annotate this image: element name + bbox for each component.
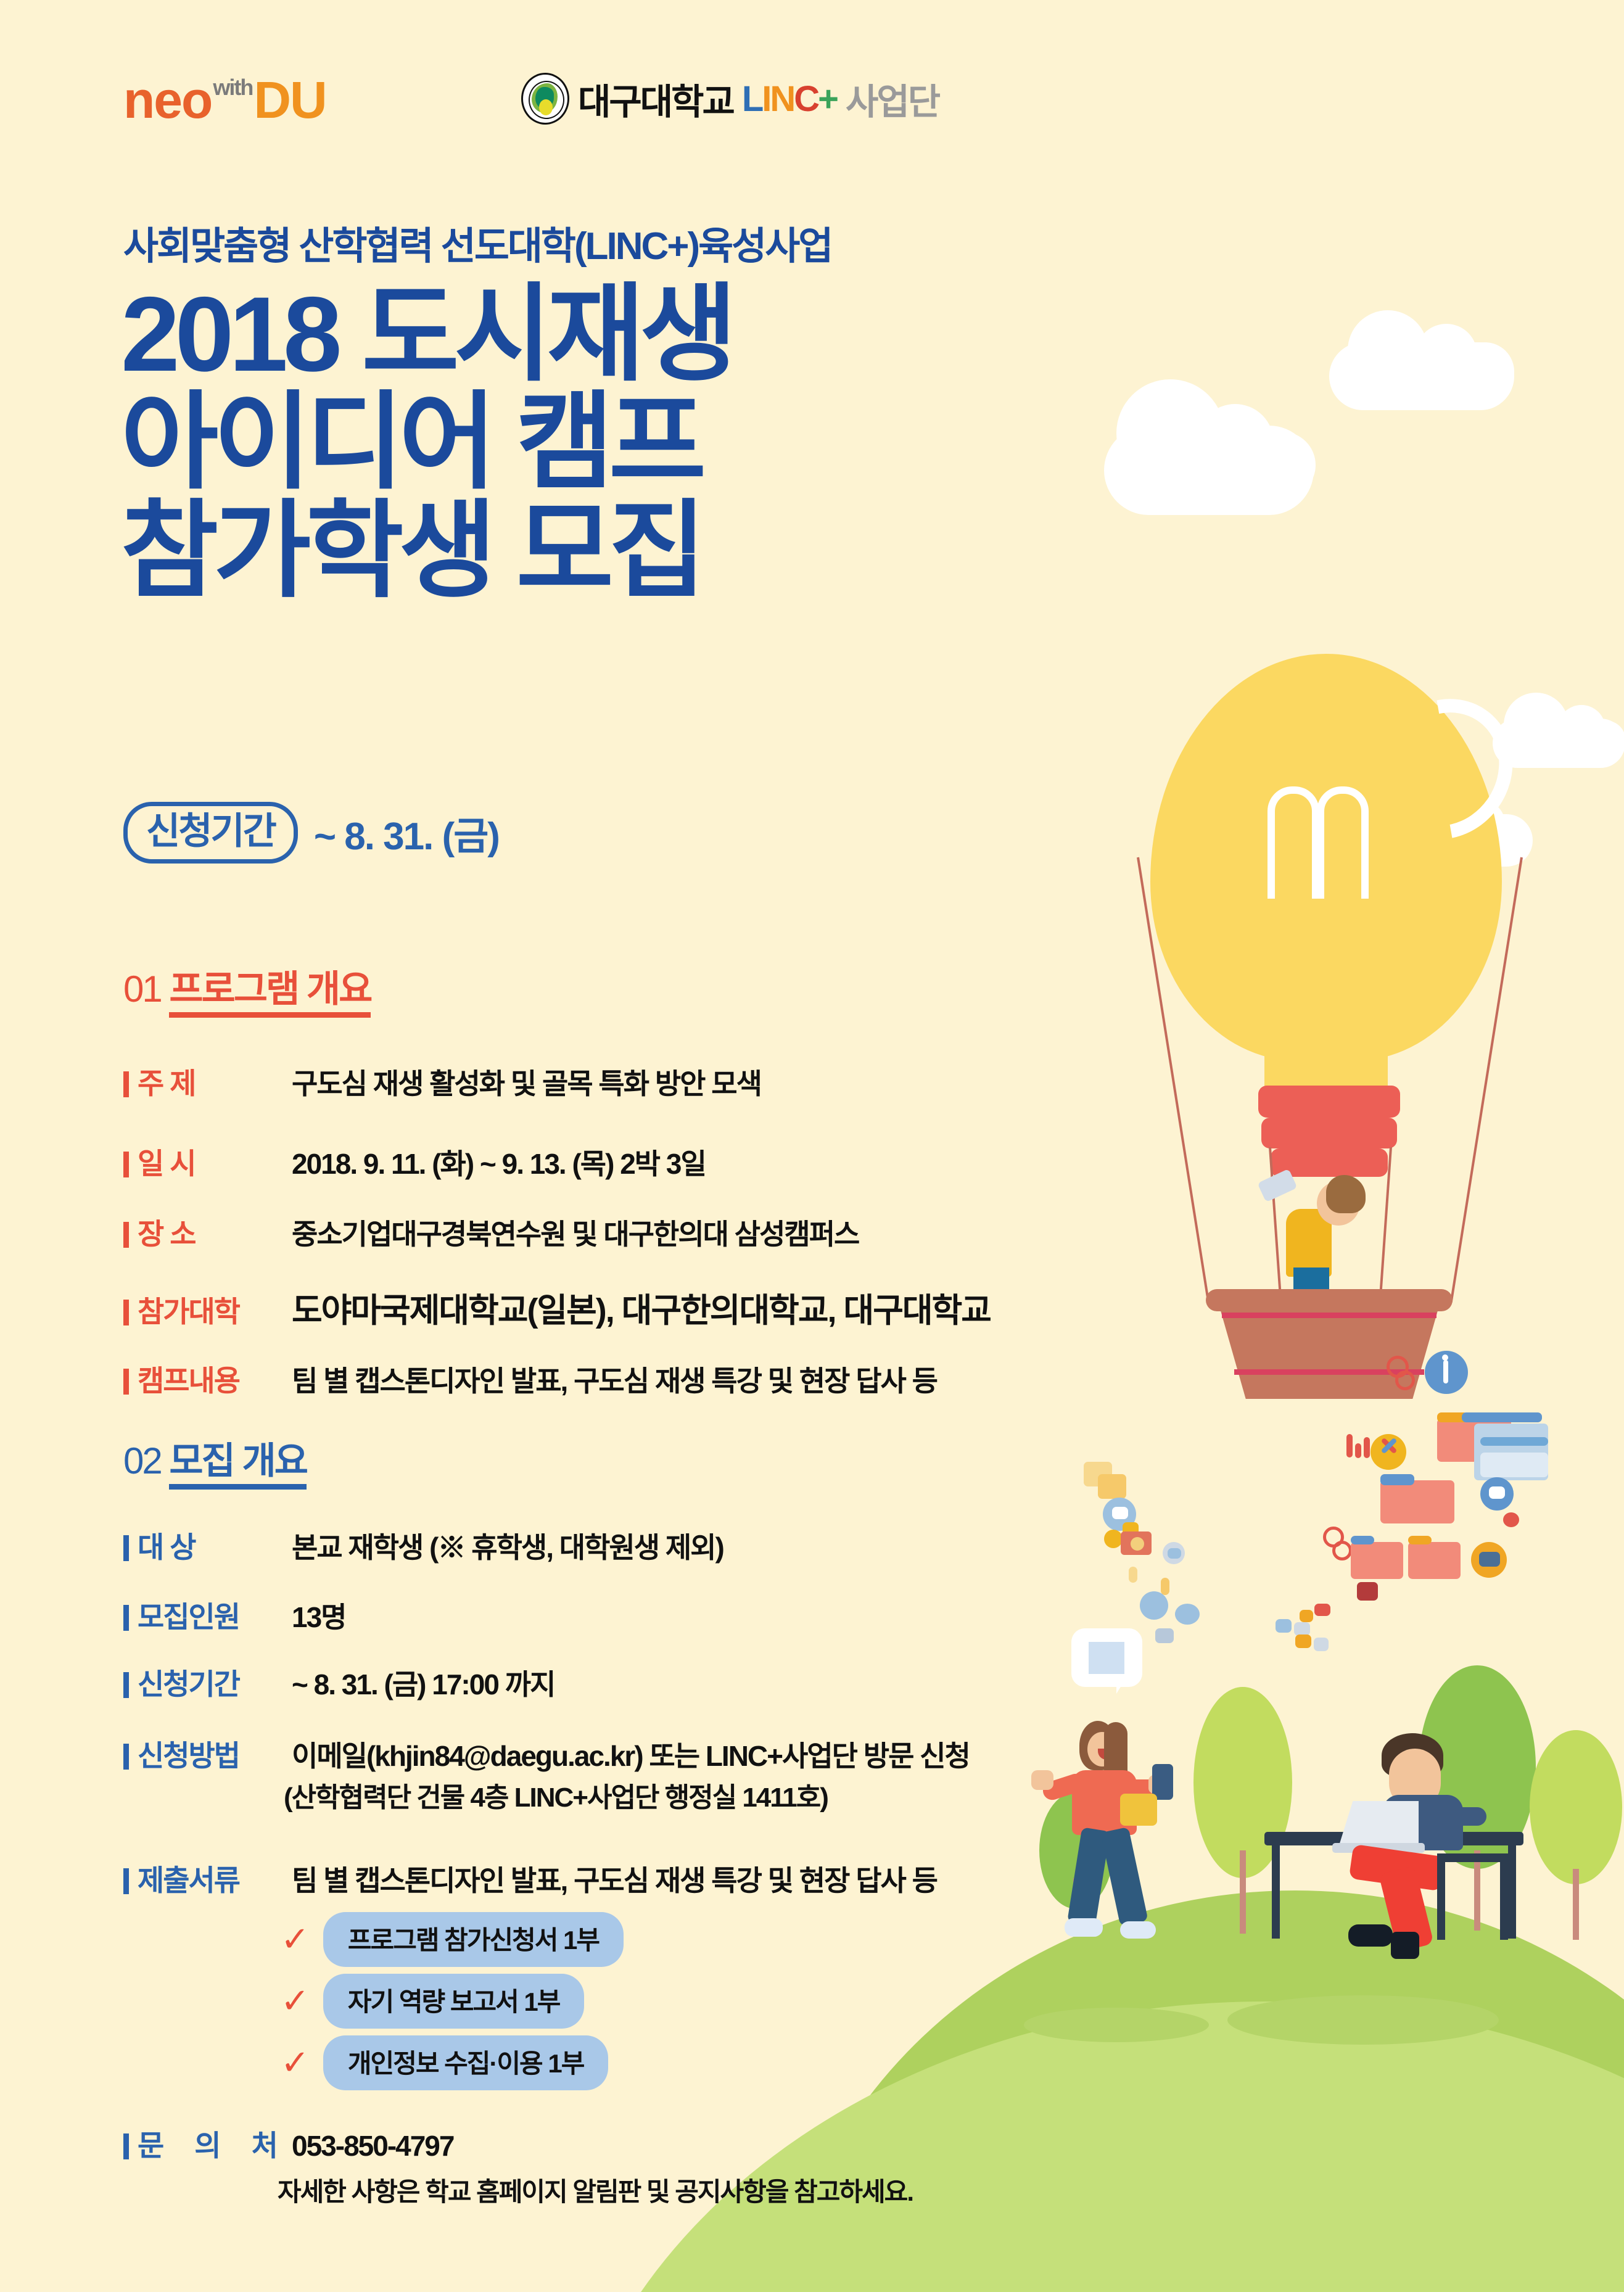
row-marker [123,1152,129,1177]
table-row: 참가대학 도야마국제대학교(일본), 대구한의대학교, 대구대학교 [123,1283,991,1332]
table-row: 제출서류 팀 별 캡스톤디자인 발표, 구도심 재생 특강 및 현장 답사 등 [123,1857,937,1899]
shadow-ellipse [1024,2008,1209,2042]
application-period-badge: 신청기간 [123,802,298,864]
cloud-icon [1104,426,1314,515]
tree-icon [1039,1792,1113,1937]
row-marker [123,1672,129,1698]
row-marker [123,1300,129,1325]
contact-row: 문 의 처 053-850-4797 [123,2122,453,2164]
tree-icon [1530,1730,1622,1940]
contact-note: 자세한 사항은 학교 홈페이지 알림판 및 공지사항을 참고하세요. [278,2171,913,2209]
row-label: 장 소 [138,1210,292,1253]
checkmark-icon: ✓ [281,1981,310,2021]
grass-hill-back [771,1890,1624,2292]
row-value: 팀 별 캡스톤디자인 발표, 구도심 재생 특강 및 현장 답사 등 [292,1359,937,1400]
document-item: ✓ 자기 역량 보고서 1부 [281,1974,584,2029]
table-row: 신청기간 ~ 8. 31. (금) 17:00 까지 [123,1660,554,1703]
application-period-row: 신청기간 ~ 8. 31. (금) [123,802,499,864]
row-value: 팀 별 캡스톤디자인 발표, 구도심 재생 특강 및 현장 답사 등 [292,1858,937,1899]
row-label: 신청기간 [138,1660,292,1703]
document-label: 프로그램 참가신청서 1부 [323,1912,624,1967]
table-row: 신청방법 이메일(khjin84@daegu.ac.kr) 또는 LINC+사업… [123,1732,970,1775]
row-marker [123,1605,129,1631]
shadow-ellipse [1227,1995,1499,2045]
row-marker [123,1868,129,1894]
students-illustration [1005,1684,1560,2029]
university-seal-icon [521,73,569,125]
document-label: 개인정보 수집·이용 1부 [323,2035,608,2090]
tree-icon [1193,1687,1292,1934]
cloud-icon [1385,814,1533,867]
table-row: 일 시 2018. 9. 11. (화) ~ 9. 13. (목) 2박 3일 [123,1140,706,1182]
title-line-3: 참가학생 모집 [121,497,732,605]
row-value: 2018. 9. 11. (화) ~ 9. 13. (목) 2박 3일 [292,1142,706,1182]
row-label: 캠프내용 [138,1357,292,1400]
section-1-heading: 01 프로그램 개요 [123,959,371,1013]
document-label: 자기 역량 보고서 1부 [323,1974,585,2029]
contact-phone: 053-850-4797 [292,2129,453,2162]
linc-wordmark: LINC+ [742,78,837,120]
checkmark-icon: ✓ [281,2043,310,2083]
row-marker [123,1222,129,1248]
title-line-1: 2018 도시재생 [121,281,732,389]
kicker-text: 사회맞춤형 산학협력 선도대학(LINC+)육성사업 [123,215,831,270]
row-label: 제출서류 [138,1857,292,1899]
row-value: 본교 재학생 (※ 휴학생, 대학원생 제외) [292,1525,723,1566]
section-1-number: 01 [123,968,161,1010]
row-marker [123,1744,129,1770]
row-value: 구도심 재생 활성화 및 골목 특화 방안 모색 [292,1061,761,1102]
neo-logo-with-text: with [213,76,252,99]
cloud-icon [1493,719,1624,768]
neo-logo-text: neo [123,74,212,126]
neo-with-du-logo: neo with DU [123,74,326,126]
linc-letter-c: C [794,79,818,119]
linc-letter-plus: + [818,79,837,119]
document-icon [1089,1642,1124,1674]
row-value: 중소기업대구경북연수원 및 대구한의대 삼성캠퍼스 [292,1212,859,1253]
grass-hill-front [555,2001,1624,2292]
section-2-number: 02 [123,1440,161,1482]
application-period-date: ~ 8. 31. (금) [314,805,499,860]
row-label: 대 상 [138,1523,292,1566]
row-value: 도야마국제대학교(일본), 대구한의대학교, 대구대학교 [292,1283,991,1332]
poster-canvas: neo with DU 대구대학교 LINC+ 사업단 사회맞춤형 산학협력 선… [0,0,1624,2292]
row-label: 참가대학 [138,1288,292,1330]
lightbulb-balloon-illustration [1113,654,1545,1382]
linc-letter-l: L [742,79,762,119]
daegu-university-linc-logo: 대구대학교 LINC+ 사업단 [521,73,939,125]
row-label: 주 제 [138,1060,292,1102]
row-value: ~ 8. 31. (금) 17:00 까지 [292,1662,554,1703]
table-row: 모집인원 13명 [123,1593,346,1636]
table-row: 장 소 중소기업대구경북연수원 및 대구한의대 삼성캠퍼스 [123,1210,859,1253]
university-name-text: 대구대학교 [578,73,733,125]
linc-letter-n: N [770,79,794,119]
row-value: 이메일(khjin84@daegu.ac.kr) 또는 LINC+사업단 방문 … [292,1734,970,1775]
row-marker [123,1071,129,1097]
cloud-icon [1329,342,1514,410]
row-value: 13명 [292,1595,346,1636]
checkmark-icon: ✓ [281,1919,310,1960]
section-2-heading: 02 모집 개요 [123,1431,307,1485]
document-item: ✓ 프로그램 참가신청서 1부 [281,1912,624,1967]
tree-icon [1419,1665,1536,1931]
row-label: 신청방법 [138,1732,292,1775]
row-marker [123,2133,129,2159]
neo-logo-du-text: DU [253,74,326,126]
section-2-title: 모집 개요 [169,1440,306,1490]
table-row: 캠프내용 팀 별 캡스톤디자인 발표, 구도심 재생 특강 및 현장 답사 등 [123,1357,937,1400]
document-item: ✓ 개인정보 수집·이용 1부 [281,2035,608,2090]
row-label: 모집인원 [138,1593,292,1636]
apply-method-subline: (산학협력단 건물 4층 LINC+사업단 행정실 1411호) [284,1775,828,1815]
page-title: 2018 도시재생 아이디어 캠프 참가학생 모집 [121,281,732,605]
speech-bubble [1071,1628,1142,1687]
table-row: 대 상 본교 재학생 (※ 휴학생, 대학원생 제외) [123,1523,723,1566]
table-row: 주 제 구도심 재생 활성화 및 골목 특화 방안 모색 [123,1060,761,1102]
title-line-2: 아이디어 캠프 [121,389,732,497]
row-label: 일 시 [138,1140,292,1182]
row-marker [123,1535,129,1561]
speech-bubble-tail [1116,1678,1126,1694]
row-marker [123,1369,129,1395]
contact-label: 문 의 처 [138,2122,292,2164]
linc-suffix-text: 사업단 [846,73,939,125]
section-1-title: 프로그램 개요 [169,968,371,1018]
linc-letter-i: I [762,79,770,119]
